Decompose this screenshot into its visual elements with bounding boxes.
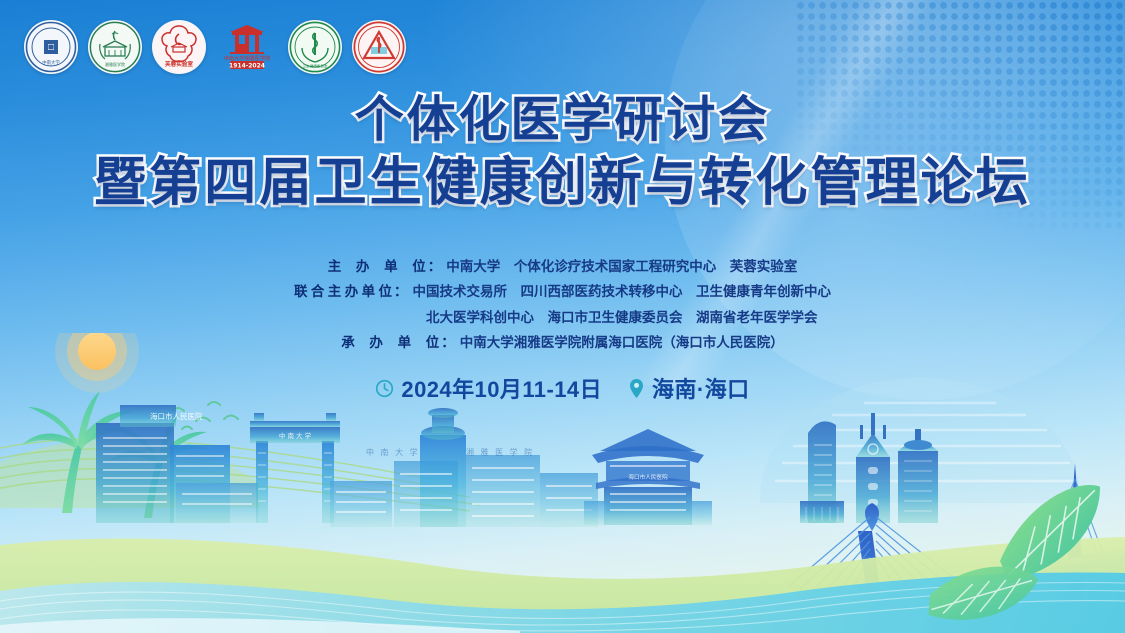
organizer-colon: ： <box>441 332 455 354</box>
xiangya-110-anniversary-logo: 中南大学湘雅医学院 1914-2024 <box>216 20 278 74</box>
svg-text:海口市人民医院: 海口市人民医院 <box>628 473 668 481</box>
organizer-value: 中国技术交易所 四川西部医药技术转移中心 卫生健康青年创新中心 <box>413 281 832 303</box>
furong-laboratory-logo: 芙蓉实验室 <box>152 20 206 74</box>
organizer-row: 主 办 单 位 ： 中南大学 个体化诊疗技术国家工程研究中心 芙蓉实验室 <box>328 256 798 278</box>
svg-text:湘 雅 医 学 院: 湘 雅 医 学 院 <box>466 447 534 457</box>
svg-text:1914-2024: 1914-2024 <box>229 62 265 69</box>
organizer-colon: ： <box>428 256 442 278</box>
xiangya-medical-school-logo: 湘雅医学院 <box>88 20 142 74</box>
svg-text:湘雅医学院: 湘雅医学院 <box>105 61 125 67</box>
svg-text:中 南 大 学: 中 南 大 学 <box>366 447 420 457</box>
conference-date: 2024年10月11-14日 <box>401 372 602 404</box>
organizer-row: 承 办 单 位 ： 中南大学湘雅医学院附属海口医院（海口市人民医院） <box>341 332 784 354</box>
organizer-colon: ： <box>394 281 408 303</box>
haikou-health-commission-logo: 卫生健康委员会 <box>288 20 342 74</box>
central-south-university-logo: 中南大学 <box>24 20 78 74</box>
organizer-block: 主 办 单 位 ： 中南大学 个体化诊疗技术国家工程研究中心 芙蓉实验室 联合主… <box>0 256 1125 354</box>
organizer-value: 北大医学科创中心 海口市卫生健康委员会 湖南省老年医学学会 <box>426 307 818 329</box>
organizer-row: 联合主办单位 ： 中国技术交易所 四川西部医药技术转移中心 卫生健康青年创新中心 <box>294 281 831 303</box>
date-item: 2024年10月11-14日 <box>375 372 602 404</box>
clock-icon <box>375 379 394 398</box>
organizer-value: 中南大学湘雅医学院附属海口医院（海口市人民医院） <box>460 332 784 354</box>
meta-block: 2024年10月11-14日 海南·海口 <box>0 372 1125 404</box>
conference-poster: 中南大学 湘雅医学院 芙蓉实验室 <box>0 0 1125 633</box>
logo-row: 中南大学 湘雅医学院 芙蓉实验室 <box>24 20 406 74</box>
organizer-value: 中南大学 个体化诊疗技术国家工程研究中心 芙蓉实验室 <box>446 256 797 278</box>
svg-text:中 南 大 学: 中 南 大 学 <box>279 431 312 440</box>
location-item: 海南·海口 <box>628 372 750 404</box>
svg-text:中南大学湘雅医学院: 中南大学湘雅医学院 <box>224 54 272 62</box>
xiangya-gateway: 中 南 大 学 <box>250 413 340 523</box>
poster-title-sub: 暨第四届卫生健康创新与转化管理论坛 <box>0 156 1125 211</box>
svg-text:芙蓉实验室: 芙蓉实验室 <box>164 60 193 68</box>
traditional-hall: 海口市人民医院 <box>584 429 712 525</box>
svg-text:海口市人民医院: 海口市人民医院 <box>150 411 203 421</box>
organizer-label: 主 办 单 位 <box>328 256 426 278</box>
svg-text:卫生健康委员会: 卫生健康委员会 <box>302 64 328 69</box>
haikou-peoples-hospital-building: 海口市人民医院 <box>96 405 258 523</box>
organizer-label: 联合主办单位 <box>294 281 392 303</box>
title-block: 个体化医学研讨会 暨第四届卫生健康创新与转化管理论坛 <box>0 94 1125 211</box>
haikou-peoples-hospital-logo <box>352 20 406 74</box>
organizer-row: 联合主办单位 ： 北大医学科创中心 海口市卫生健康委员会 湖南省老年医学学会 <box>308 307 818 329</box>
organizer-label: 承 办 单 位 <box>341 332 439 354</box>
svg-text:中南大学: 中南大学 <box>42 59 60 66</box>
map-pin-icon <box>628 378 645 399</box>
conference-location: 海南·海口 <box>652 372 750 404</box>
poster-title-main: 个体化医学研讨会 <box>0 94 1125 146</box>
